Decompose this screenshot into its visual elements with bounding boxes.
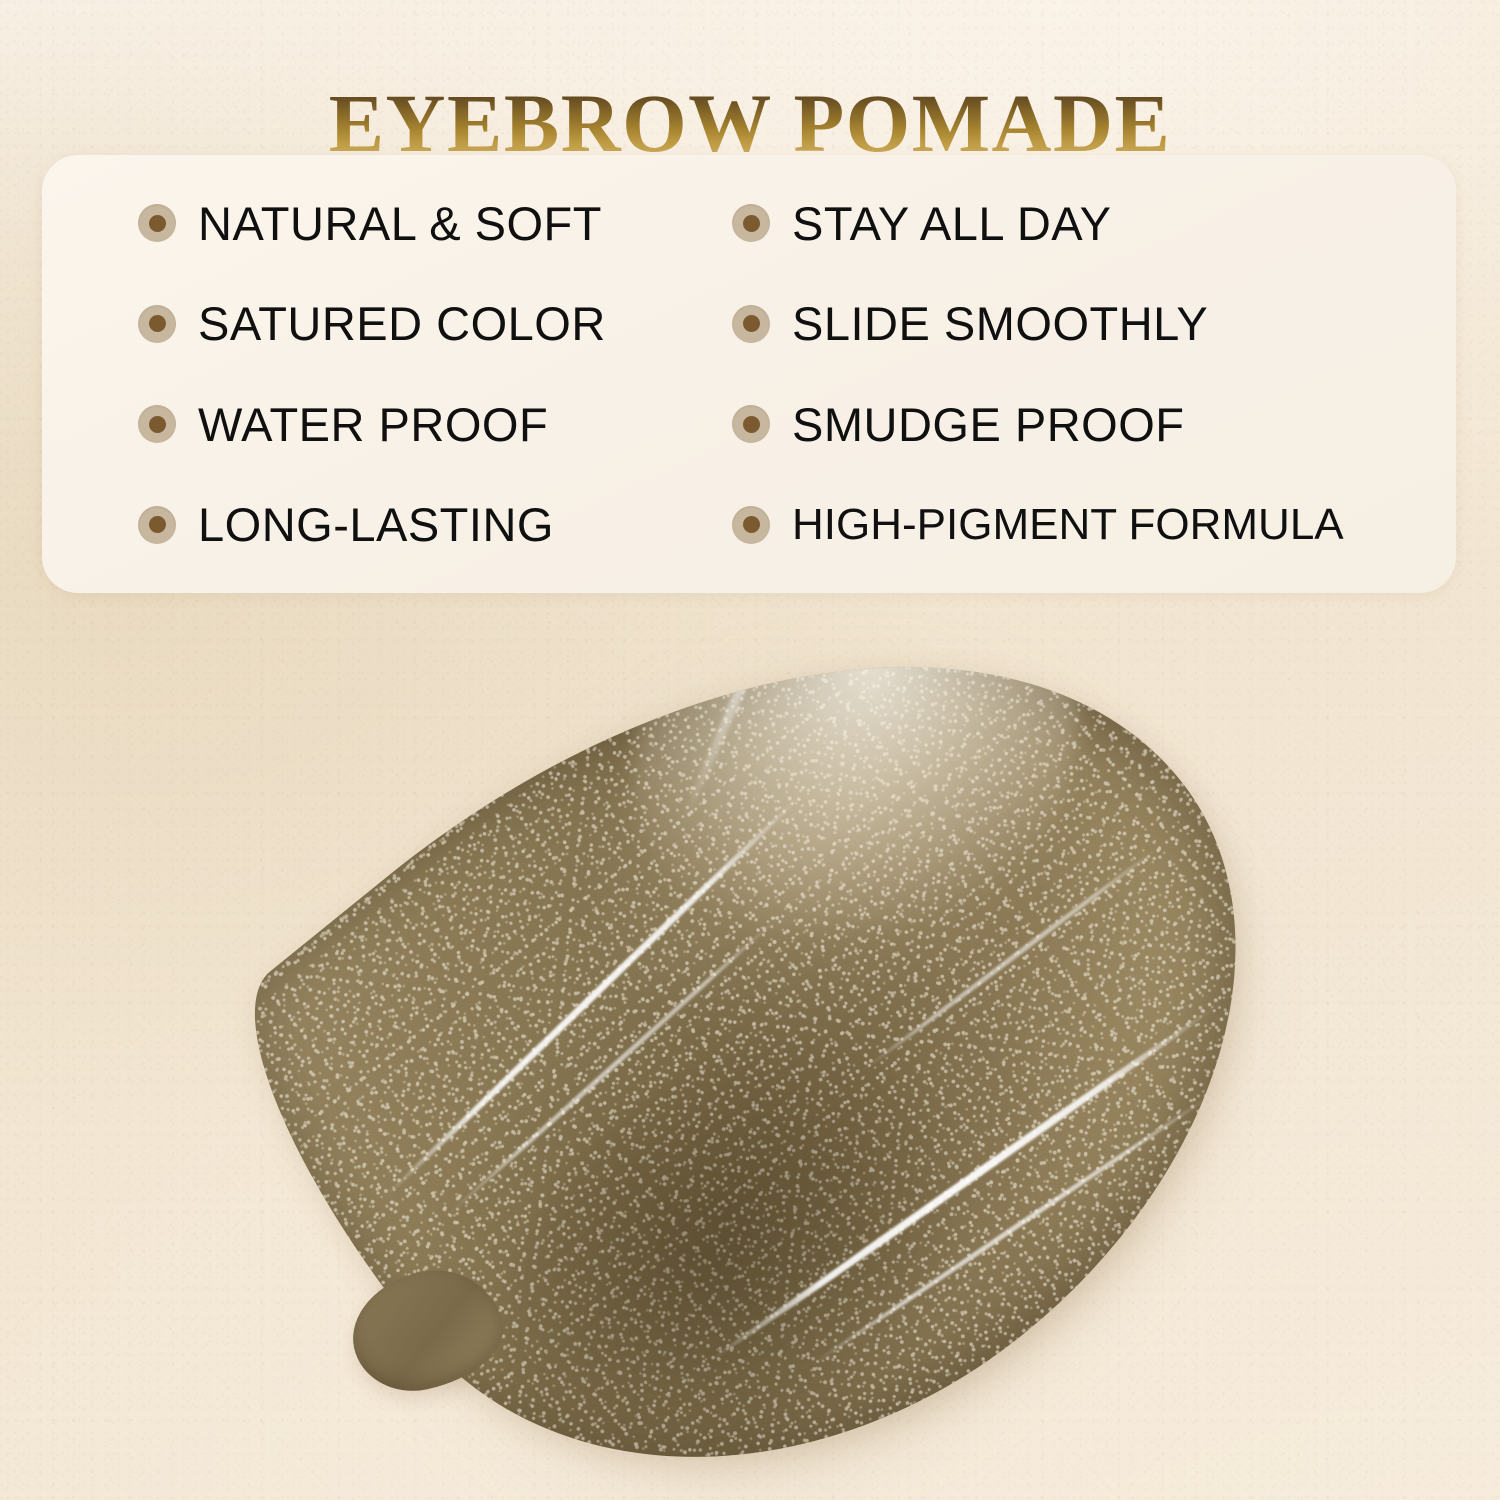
feature-item-natural-and-soft: NATURAL & SOFT [42, 200, 732, 247]
feature-item-water-proof: WATER PROOF [42, 401, 732, 448]
feature-item-stay-all-day: STAY ALL DAY [732, 200, 1456, 247]
feature-label: SMUDGE PROOF [792, 401, 1184, 448]
bullet-dot-icon [732, 204, 770, 242]
feature-list-card: NATURAL & SOFT STAY ALL DAY SATURED COLO… [42, 155, 1456, 593]
feature-item-smudge-proof: SMUDGE PROOF [732, 401, 1456, 448]
bullet-dot-icon [732, 305, 770, 343]
page-title: EYEBROW POMADE [0, 82, 1500, 165]
bullet-dot-icon [138, 405, 176, 443]
feature-label: SATURED COLOR [198, 300, 606, 347]
feature-item-satured-color: SATURED COLOR [42, 300, 732, 347]
bullet-dot-icon [732, 405, 770, 443]
product-swatch-image [0, 600, 1500, 1500]
bullet-dot-icon [138, 506, 176, 544]
feature-label: STAY ALL DAY [792, 200, 1112, 247]
feature-item-long-lasting: LONG-LASTING [42, 501, 732, 548]
bullet-dot-icon [138, 204, 176, 242]
feature-label: LONG-LASTING [198, 501, 554, 548]
feature-label: SLIDE SMOOTHLY [792, 300, 1208, 347]
feature-label: WATER PROOF [198, 401, 548, 448]
bullet-dot-icon [732, 506, 770, 544]
feature-item-slide-smoothly: SLIDE SMOOTHLY [732, 300, 1456, 347]
feature-grid: NATURAL & SOFT STAY ALL DAY SATURED COLO… [42, 155, 1456, 593]
feature-label: NATURAL & SOFT [198, 200, 602, 247]
product-feature-banner: EYEBROW POMADE NATURAL & SOFT STAY ALL D… [0, 0, 1500, 1500]
bullet-dot-icon [138, 305, 176, 343]
